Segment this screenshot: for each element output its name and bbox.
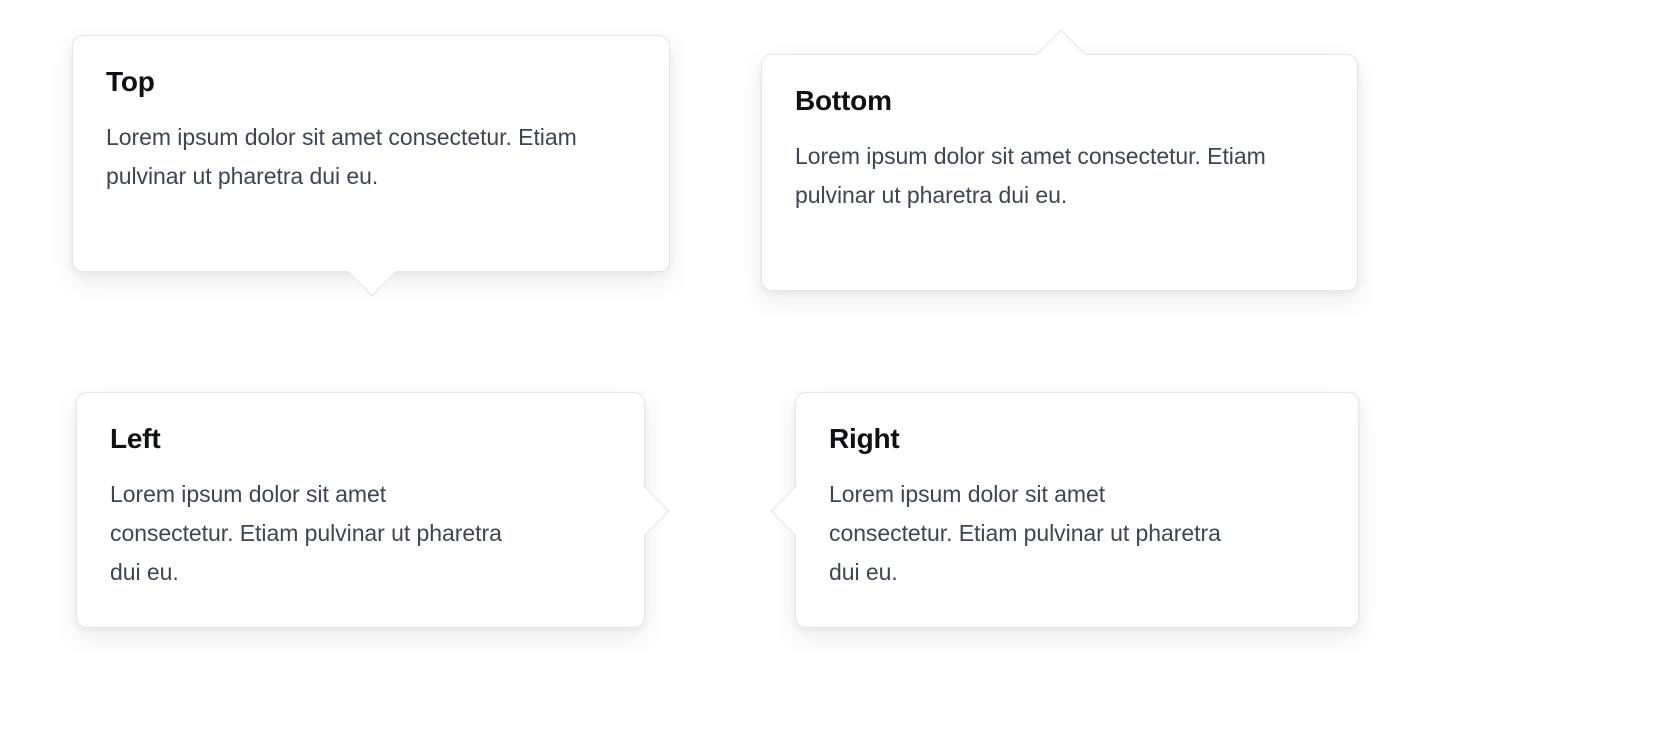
popover-bottom-title: Bottom	[795, 85, 1325, 117]
popover-left-body: Lorem ipsum dolor sit amet consectetur. …	[110, 475, 510, 592]
popover-left-content: Left Lorem ipsum dolor sit amet consecte…	[77, 393, 644, 622]
popover-top-title: Top	[106, 66, 637, 98]
popover-bottom[interactable]: Bottom Lorem ipsum dolor sit amet consec…	[761, 54, 1358, 291]
popover-right-content: Right Lorem ipsum dolor sit amet consect…	[796, 393, 1358, 622]
popover-right-body: Lorem ipsum dolor sit amet consectetur. …	[829, 475, 1229, 592]
popover-bottom-content: Bottom Lorem ipsum dolor sit amet consec…	[762, 55, 1357, 245]
popover-left-title: Left	[110, 423, 612, 455]
popover-right-title: Right	[829, 423, 1326, 455]
popover-left[interactable]: Left Lorem ipsum dolor sit amet consecte…	[76, 392, 645, 628]
popover-bottom-body: Lorem ipsum dolor sit amet consectetur. …	[795, 137, 1295, 215]
popover-top-content: Top Lorem ipsum dolor sit amet consectet…	[73, 36, 669, 226]
popover-top-body: Lorem ipsum dolor sit amet consectetur. …	[106, 118, 606, 196]
arrow-down-icon	[347, 246, 398, 297]
popover-right[interactable]: Right Lorem ipsum dolor sit amet consect…	[795, 392, 1359, 628]
popover-showcase: Top Lorem ipsum dolor sit amet consectet…	[0, 0, 1672, 740]
popover-top[interactable]: Top Lorem ipsum dolor sit amet consectet…	[72, 35, 670, 272]
